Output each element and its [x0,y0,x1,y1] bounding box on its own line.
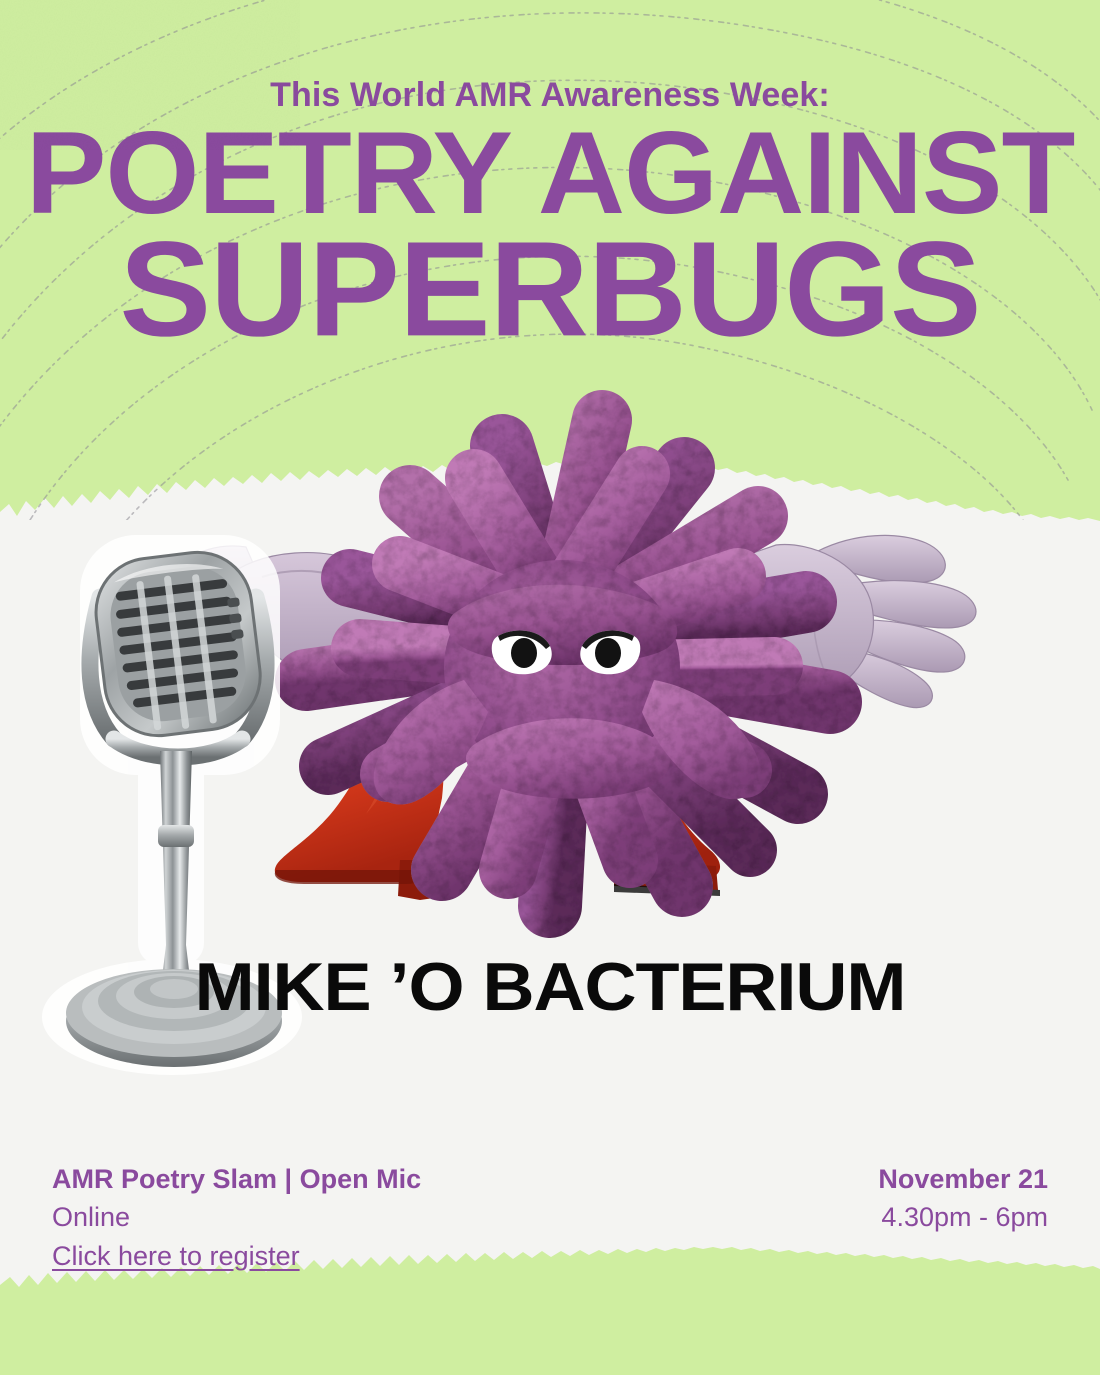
page-title-line-2: SUPERBUGS [0,231,1100,350]
footer: AMR Poetry Slam | Open Mic Online Click … [0,1160,1100,1300]
event-location: Online [52,1198,421,1236]
footer-left-column: AMR Poetry Slam | Open Mic Online Click … [52,1160,421,1275]
page-title-line-1: POETRY AGAINST [0,121,1100,224]
register-link[interactable]: Click here to register [52,1241,300,1271]
footer-right-column: November 21 4.30pm - 6pm [878,1160,1048,1237]
character-name-label: MIKE ’O BACTERIUM [0,948,1100,1026]
green-bottom-fill [0,1295,1100,1375]
character-illustration [0,330,1100,1050]
poster: This World AMR Awareness Week: POETRY AG… [0,0,1100,1375]
bacteria-character-icon [250,350,870,970]
event-time: 4.30pm - 6pm [878,1198,1048,1236]
event-date: November 21 [878,1160,1048,1198]
event-title: AMR Poetry Slam | Open Mic [52,1160,421,1198]
